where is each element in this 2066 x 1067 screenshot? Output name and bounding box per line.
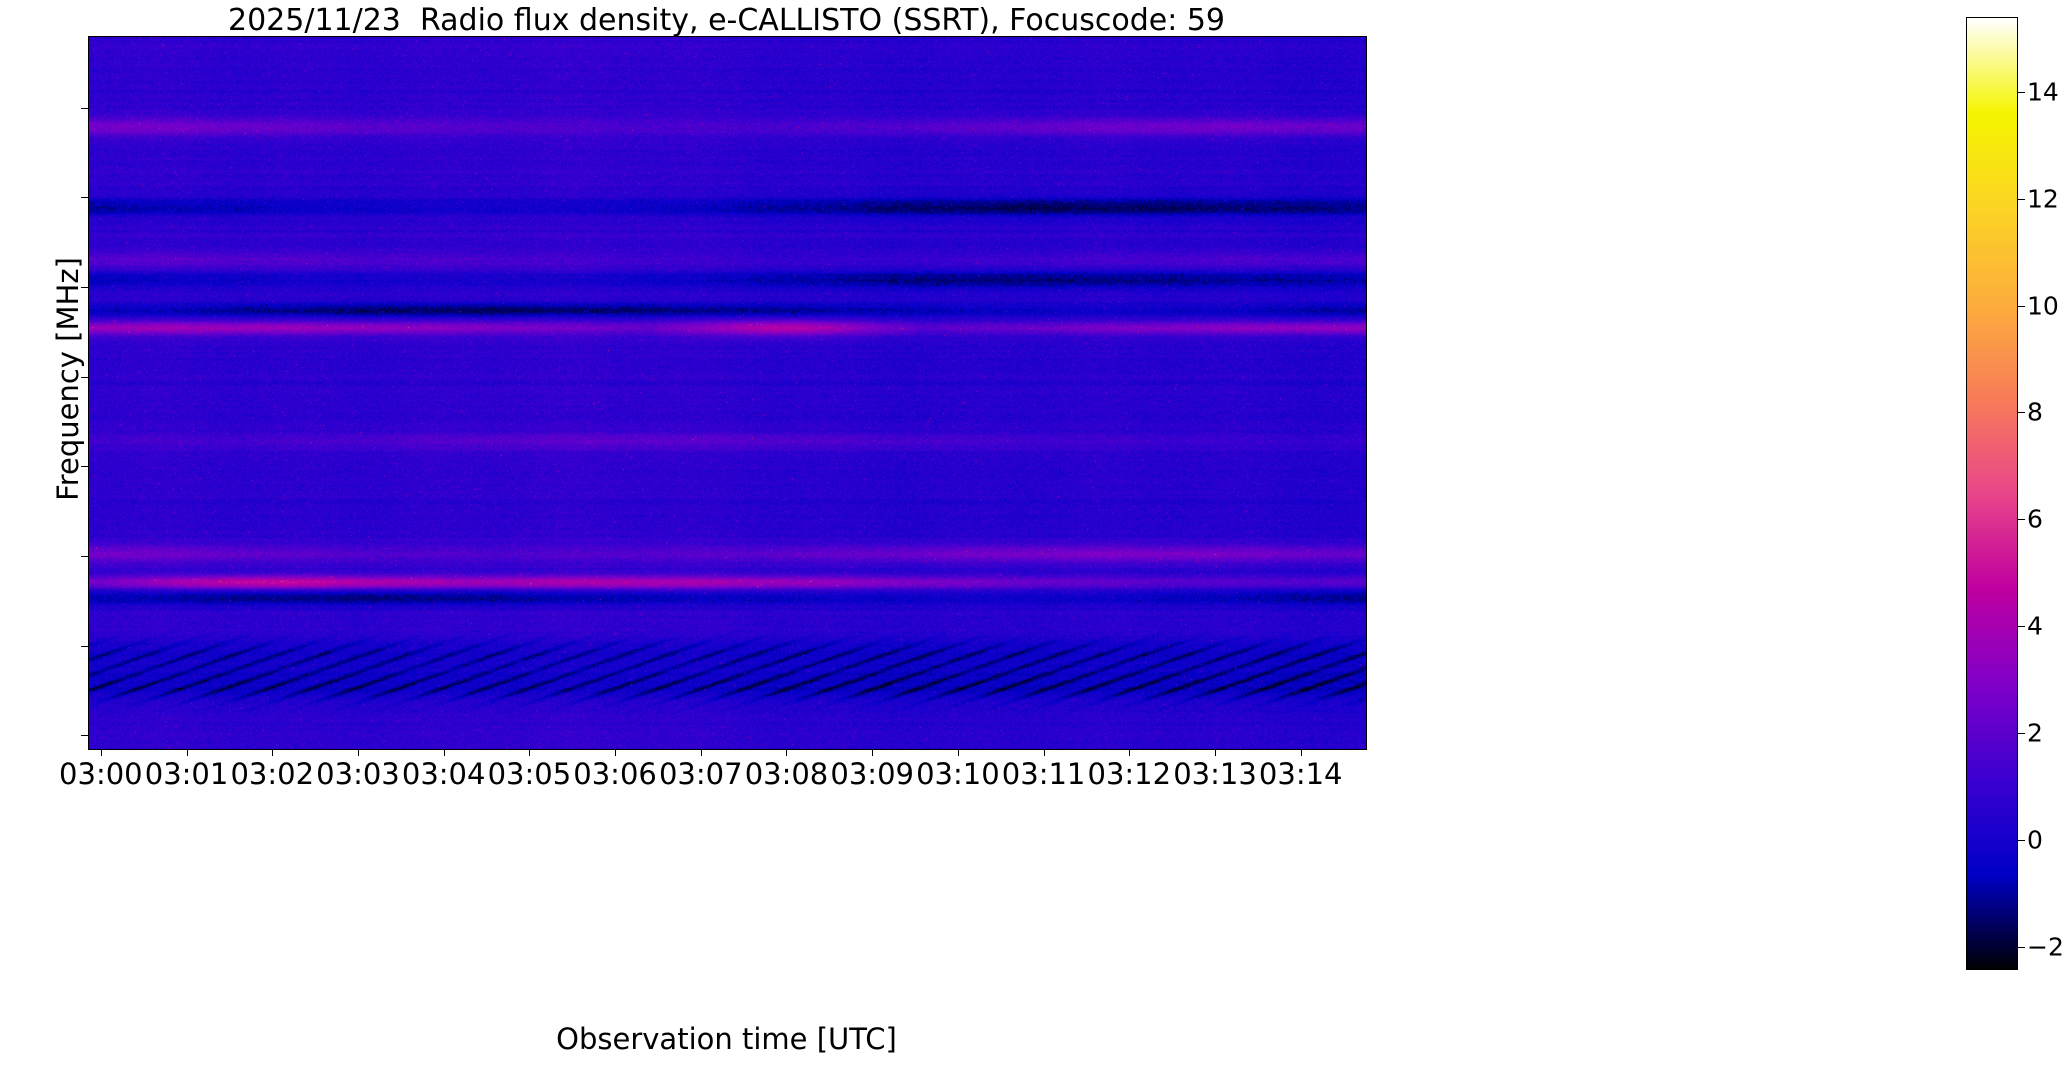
y-axis-title: Frequency [MHz] bbox=[51, 29, 85, 729]
y-tick-mark bbox=[81, 466, 88, 467]
x-tick-mark bbox=[872, 749, 873, 756]
x-tick-label: 03:14 bbox=[1221, 757, 1381, 791]
colorbar-tick-label: −2 bbox=[2027, 932, 2064, 961]
x-tick-mark bbox=[786, 749, 787, 756]
spectrogram-figure: 2025/11/23 Radio flux density, e-CALLIST… bbox=[0, 0, 2066, 1067]
colorbar-tick-mark bbox=[2018, 306, 2025, 307]
colorbar-tick-label: 8 bbox=[2027, 398, 2043, 427]
colorbar-tick-label: 0 bbox=[2027, 825, 2043, 854]
x-tick-mark bbox=[615, 749, 616, 756]
colorbar-tick-label: 12 bbox=[2027, 184, 2059, 213]
x-tick-mark bbox=[187, 749, 188, 756]
x-tick-mark bbox=[1129, 749, 1130, 756]
spectrogram-image bbox=[89, 37, 1366, 749]
colorbar-tick-mark bbox=[2018, 92, 2025, 93]
spectrogram-plot-area bbox=[88, 36, 1367, 750]
colorbar-tick-mark bbox=[2018, 840, 2025, 841]
x-tick-mark bbox=[101, 749, 102, 756]
y-tick-mark bbox=[81, 197, 88, 198]
x-tick-mark bbox=[1044, 749, 1045, 756]
x-tick-mark bbox=[272, 749, 273, 756]
colorbar-tick-label: 10 bbox=[2027, 291, 2059, 320]
colorbar-tick-mark bbox=[2018, 412, 2025, 413]
colorbar-tick-label: 6 bbox=[2027, 505, 2043, 534]
y-tick-mark bbox=[81, 735, 88, 736]
x-axis-title: Observation time [UTC] bbox=[88, 1022, 1365, 1056]
y-tick-mark bbox=[81, 287, 88, 288]
x-tick-mark bbox=[358, 749, 359, 756]
colorbar bbox=[1966, 17, 2018, 970]
y-tick-mark bbox=[81, 556, 88, 557]
colorbar-tick-label: 14 bbox=[2027, 77, 2059, 106]
colorbar-tick-mark bbox=[2018, 199, 2025, 200]
page-title: 2025/11/23 Radio flux density, e-CALLIST… bbox=[88, 4, 1365, 38]
x-tick-mark bbox=[444, 749, 445, 756]
colorbar-tick-label: 4 bbox=[2027, 612, 2043, 641]
x-tick-mark bbox=[701, 749, 702, 756]
colorbar-tick-mark bbox=[2018, 947, 2025, 948]
x-tick-mark bbox=[529, 749, 530, 756]
x-tick-mark bbox=[1215, 749, 1216, 756]
colorbar-tick-mark bbox=[2018, 626, 2025, 627]
colorbar-tick-mark bbox=[2018, 733, 2025, 734]
y-tick-mark bbox=[81, 108, 88, 109]
y-tick-mark bbox=[81, 646, 88, 647]
x-tick-mark bbox=[1301, 749, 1302, 756]
y-tick-mark bbox=[81, 377, 88, 378]
colorbar-tick-label: 2 bbox=[2027, 718, 2043, 747]
colorbar-gradient bbox=[1967, 18, 2017, 969]
x-tick-mark bbox=[958, 749, 959, 756]
colorbar-tick-mark bbox=[2018, 519, 2025, 520]
